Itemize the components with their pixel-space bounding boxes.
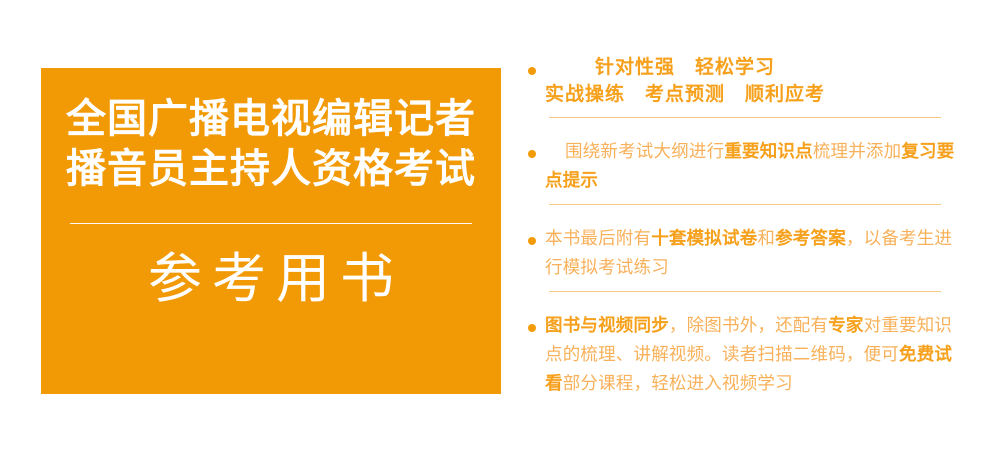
cover-title-line-1: 全国广播电视编辑记者 — [41, 94, 501, 144]
feature-slogan-text-1: 针对性强 轻松学习 — [595, 57, 775, 78]
feature-mock-part-0: 本书最后附有 — [545, 228, 651, 248]
feature-outline-part-0: 围绕新考试大纲进行 — [565, 141, 724, 161]
feature-video-part-5: 部分课程，轻松进入视频学习 — [563, 373, 793, 393]
feature-outline-text: 围绕新考试大纲进行重要知识点梳理并添加复习要点提示 — [545, 137, 958, 195]
feature-mock-part-1: 十套模拟试卷 — [651, 228, 757, 248]
list-item: 图书与视频同步，除图书外，还配有专家对重要知识点的梳理、讲解视频。读者扫描二维码… — [518, 299, 958, 405]
feature-mock-part-2: 和 — [757, 228, 775, 248]
book-cover-panel: 全国广播电视编辑记者 播音员主持人资格考试 参考用书 — [41, 68, 501, 394]
feature-outline-part-2: 梳理并添加 — [813, 141, 902, 161]
feature-outline-part-1: 重要知识点 — [724, 141, 813, 161]
cover-divider — [70, 223, 472, 224]
cover-title-block: 全国广播电视编辑记者 播音员主持人资格考试 — [41, 94, 501, 194]
feature-video-part-2: 专家 — [828, 315, 863, 335]
cover-title-line-2: 播音员主持人资格考试 — [41, 144, 501, 194]
feature-video-part-1: ，除图书外，还配有 — [669, 315, 828, 335]
feature-mock-papers-text: 本书最后附有十套模拟试卷和参考答案，以备考生进行模拟考试练习 — [545, 224, 958, 282]
feature-rule — [549, 291, 941, 292]
feature-mock-part-3: 参考答案 — [775, 228, 846, 248]
cover-subtitle: 参考用书 — [41, 244, 501, 314]
feature-rule — [549, 204, 941, 205]
list-item: 针对性强 轻松学习 实战操练 考点预测 顺利应考 — [518, 54, 958, 125]
bullet-dot-icon — [528, 324, 536, 332]
feature-rule — [549, 117, 941, 118]
feature-slogan-line-1: 针对性强 轻松学习 — [545, 54, 958, 81]
bullet-dot-icon — [528, 237, 536, 245]
feature-video-text: 图书与视频同步，除图书外，还配有专家对重要知识点的梳理、讲解视频。读者扫描二维码… — [545, 311, 958, 398]
bullet-dot-icon — [528, 150, 536, 158]
bullet-dot-icon — [528, 67, 536, 75]
feature-list: 针对性强 轻松学习 实战操练 考点预测 顺利应考 围绕新考试大纲进行重要知识点梳… — [518, 54, 958, 405]
list-item: 围绕新考试大纲进行重要知识点梳理并添加复习要点提示 — [518, 125, 958, 212]
feature-video-part-0: 图书与视频同步 — [545, 315, 669, 335]
feature-slogan-line-2: 实战操练 考点预测 顺利应考 — [545, 81, 958, 108]
list-item: 本书最后附有十套模拟试卷和参考答案，以备考生进行模拟考试练习 — [518, 212, 958, 299]
